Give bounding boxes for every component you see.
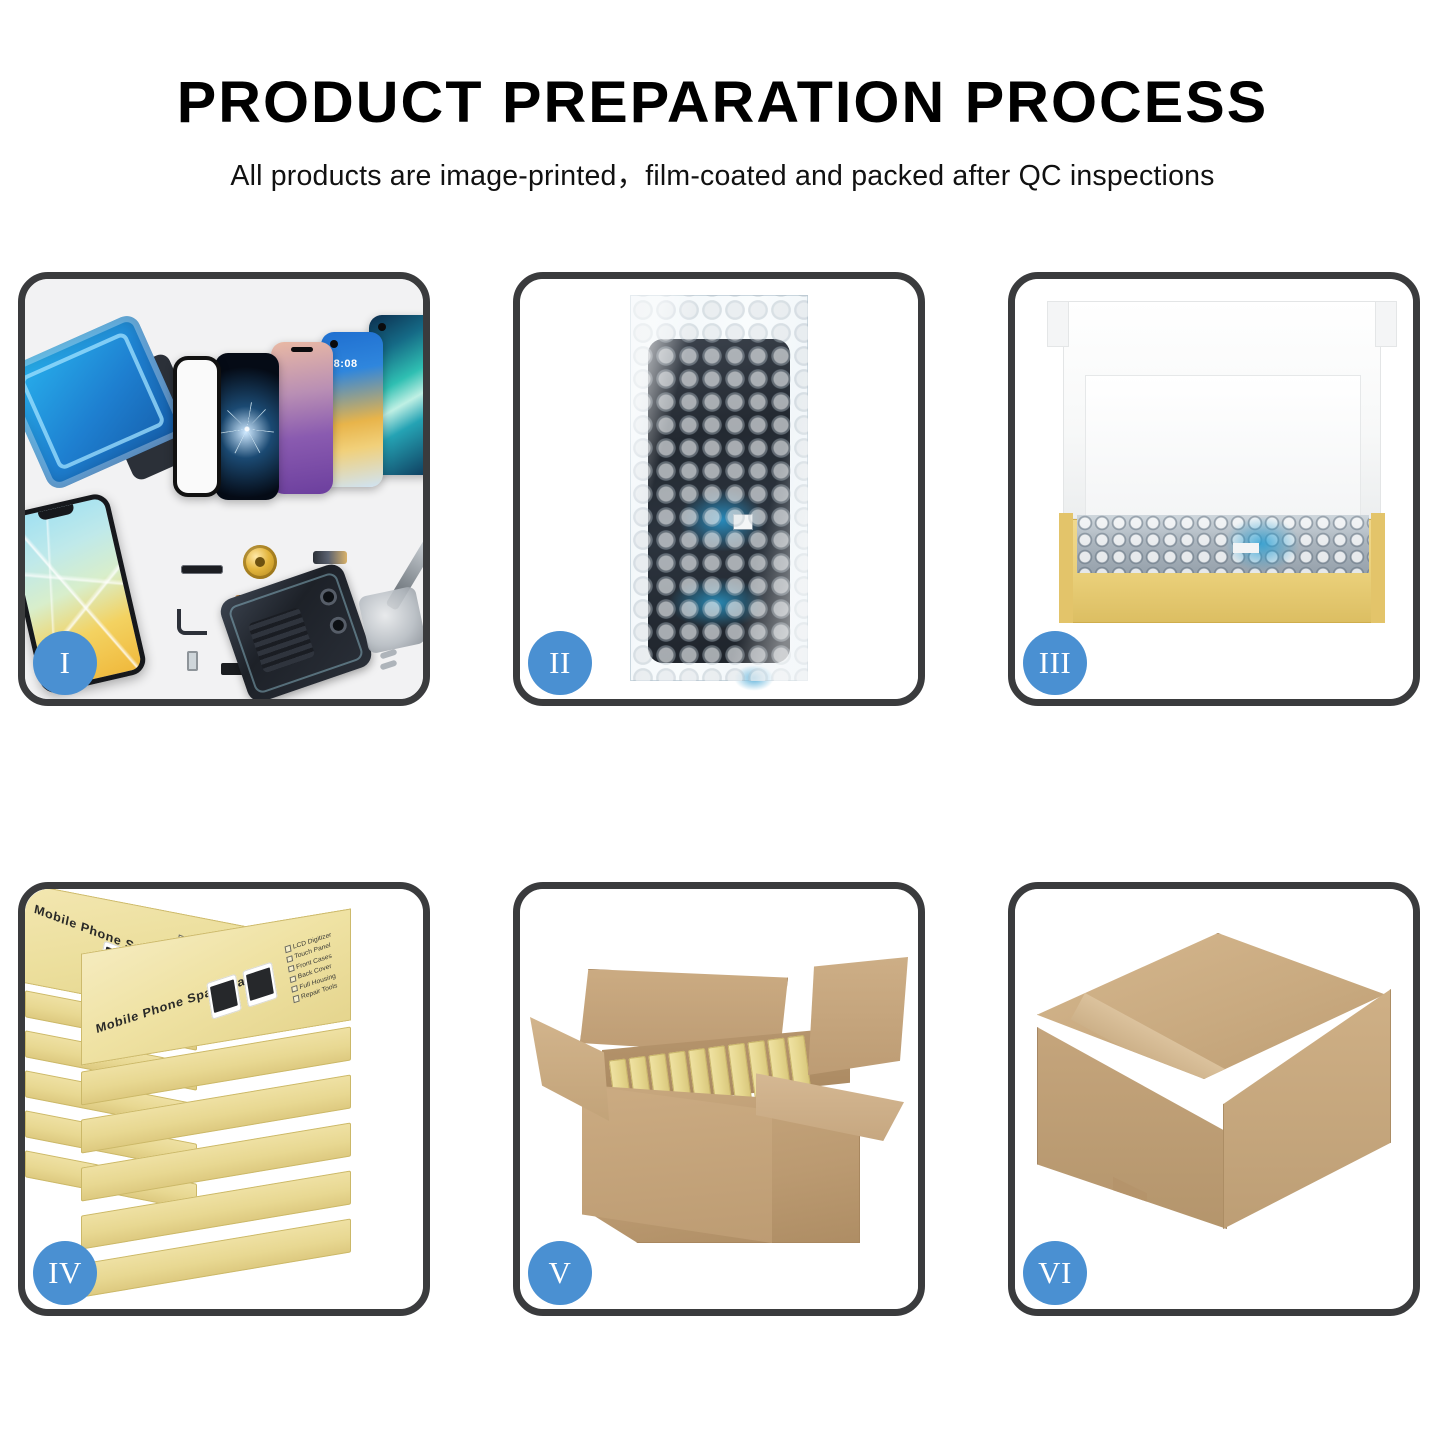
panel-3-image xyxy=(1015,279,1413,699)
spare-parts-scene: 08:08 xyxy=(25,279,423,699)
camera-lens-icon xyxy=(318,586,340,608)
glass-panel-blank xyxy=(173,356,221,497)
screw-icon xyxy=(379,660,397,671)
carton-flap-right xyxy=(808,957,908,1075)
step-badge-4: IV xyxy=(33,1241,97,1305)
notch-icon xyxy=(291,347,313,352)
carton-tab xyxy=(1113,1177,1147,1228)
white-liner-sheet xyxy=(1085,375,1361,517)
step-badge-3: III xyxy=(1023,631,1087,695)
process-step-panel-4[interactable]: Mobile Phone Spare Parts LCD Digitizer T… xyxy=(18,882,430,1316)
step-badge-2: II xyxy=(528,631,592,695)
wrapped-screens-in-box xyxy=(1077,515,1369,573)
bubble-texture xyxy=(1077,515,1369,573)
panel-1-image: 08:08 xyxy=(25,279,423,699)
camera-lens-icon xyxy=(327,615,349,637)
step-badge-1: I xyxy=(33,631,97,695)
process-step-panel-2[interactable]: II xyxy=(513,272,925,706)
process-step-panel-3[interactable]: III xyxy=(1008,272,1420,706)
ribbon-cable-part xyxy=(177,609,207,635)
retail-box-thumbnail xyxy=(242,962,278,1008)
camera-hole-icon xyxy=(330,340,338,348)
battery-part xyxy=(248,607,316,674)
panel-6-image xyxy=(1015,889,1413,1309)
step-badge-5: V xyxy=(528,1241,592,1305)
phone-back-housing xyxy=(217,561,375,699)
page-subtitle: All products are image-printed，film-coat… xyxy=(0,153,1445,194)
taptic-engine-part xyxy=(243,545,277,579)
plastic-sheen xyxy=(630,295,808,681)
panel-4-image: Mobile Phone Spare Parts LCD Digitizer T… xyxy=(25,889,423,1309)
panel-2-image xyxy=(520,279,918,699)
retail-box-checklist: LCD Digitizer Touch Panel Front Cases Ba… xyxy=(284,931,340,1006)
step-badge-6: VI xyxy=(1023,1241,1087,1305)
phone-screen-cracked-blue xyxy=(215,353,279,500)
process-step-panel-5[interactable]: V xyxy=(513,882,925,1316)
screw-icon xyxy=(379,649,397,660)
process-step-panel-1[interactable]: 08:08 xyxy=(18,272,430,706)
retail-box-thumbnail xyxy=(206,974,242,1020)
tray-left-lip xyxy=(1059,513,1073,623)
sim-tray-part xyxy=(187,651,198,671)
product-sticker xyxy=(1233,543,1259,553)
flex-cable-part xyxy=(313,551,347,564)
camera-hole-icon xyxy=(378,323,386,331)
panel-5-image xyxy=(520,889,918,1309)
earpiece-speaker-part xyxy=(181,565,223,574)
tray-right-lip xyxy=(1371,513,1385,623)
page-header: PRODUCT PREPARATION PROCESS All products… xyxy=(0,0,1445,194)
process-step-panel-6[interactable]: VI xyxy=(1008,882,1420,1316)
screws-group xyxy=(380,651,397,673)
phone-screen-purple xyxy=(271,342,333,494)
notch-icon xyxy=(38,504,75,521)
page-title: PRODUCT PREPARATION PROCESS xyxy=(0,72,1445,133)
process-step-grid: 08:08 xyxy=(0,272,1445,1316)
bubble-wrap-bag xyxy=(630,295,808,681)
repair-tool-blur xyxy=(358,586,423,655)
box-stack-scene: Mobile Phone Spare Parts LCD Digitizer T… xyxy=(25,889,423,1309)
